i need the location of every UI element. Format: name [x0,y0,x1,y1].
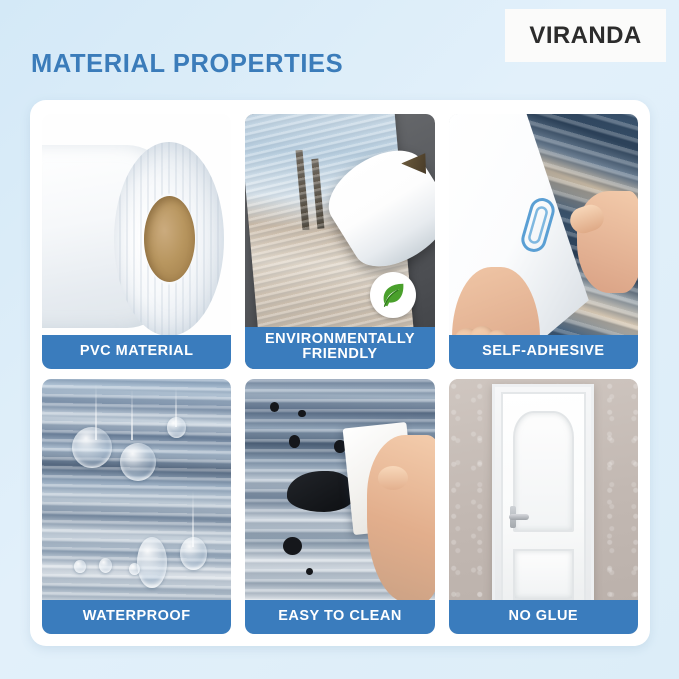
page-header: MATERIAL PROPERTIES VIRANDA [0,0,679,100]
water-drop-large [72,427,112,468]
page-title: MATERIAL PROPERTIES [31,50,343,79]
brand-logo-box: VIRANDA [505,9,666,62]
feature-label-no-glue: NO GLUE [449,600,638,634]
wallpaper-pattern-post-2 [312,158,325,229]
water-drop-tiny-2 [99,558,112,573]
feature-card-environmentally-friendly[interactable]: ENVIRONMENTALLY FRIENDLY [245,114,434,369]
feature-card-easy-to-clean[interactable]: EASY TO CLEAN [245,379,434,634]
feature-label-easy-to-clean: EASY TO CLEAN [245,600,434,634]
stain-dot-2 [298,410,306,418]
easy-to-clean-image [245,379,434,634]
stain-dot-3 [289,435,300,448]
hand-holding-cloth [367,435,435,603]
no-glue-door-image [449,379,638,634]
leaf-icon [378,280,408,310]
waterproof-image [42,379,231,634]
stain-dot-6 [306,568,314,576]
water-drop-medium-2 [137,537,167,588]
leaf-badge [370,272,416,318]
drop-trail-2 [131,389,133,440]
feature-label-pvc-material: PVC MATERIAL [42,335,231,369]
stain-dot-5 [283,537,302,555]
feature-card-pvc-material[interactable]: PVC MATERIAL [42,114,231,369]
self-adhesive-image [449,114,638,369]
door-frame [492,384,594,619]
door-leaf [501,392,586,611]
thumb-knuckle [378,466,408,490]
features-grid: PVC MATERIAL ENVIRONMENTALLY FRIENDLY [42,114,638,634]
feature-card-no-glue[interactable]: NO GLUE [449,379,638,634]
door-handle [509,514,529,520]
feature-card-waterproof[interactable]: WATERPROOF [42,379,231,634]
water-drop-medium-1 [120,443,156,481]
water-drop-tiny-1 [74,560,85,573]
water-drop-medium-3 [180,537,207,570]
pvc-roll-image [42,114,231,369]
feature-label-self-adhesive: SELF-ADHESIVE [449,335,638,369]
door-lower-panel [513,549,574,601]
stain-dot-1 [270,402,279,412]
stain-large-smear [287,471,355,512]
water-drop-small-1 [167,417,186,437]
feature-card-self-adhesive[interactable]: SELF-ADHESIVE [449,114,638,369]
features-panel: PVC MATERIAL ENVIRONMENTALLY FRIENDLY [30,100,650,646]
feature-label-waterproof: WATERPROOF [42,600,231,634]
wallpaper-pattern-post-1 [295,150,309,230]
brand-name: VIRANDA [529,22,641,50]
feature-label-environmentally-friendly: ENVIRONMENTALLY FRIENDLY [245,327,434,369]
